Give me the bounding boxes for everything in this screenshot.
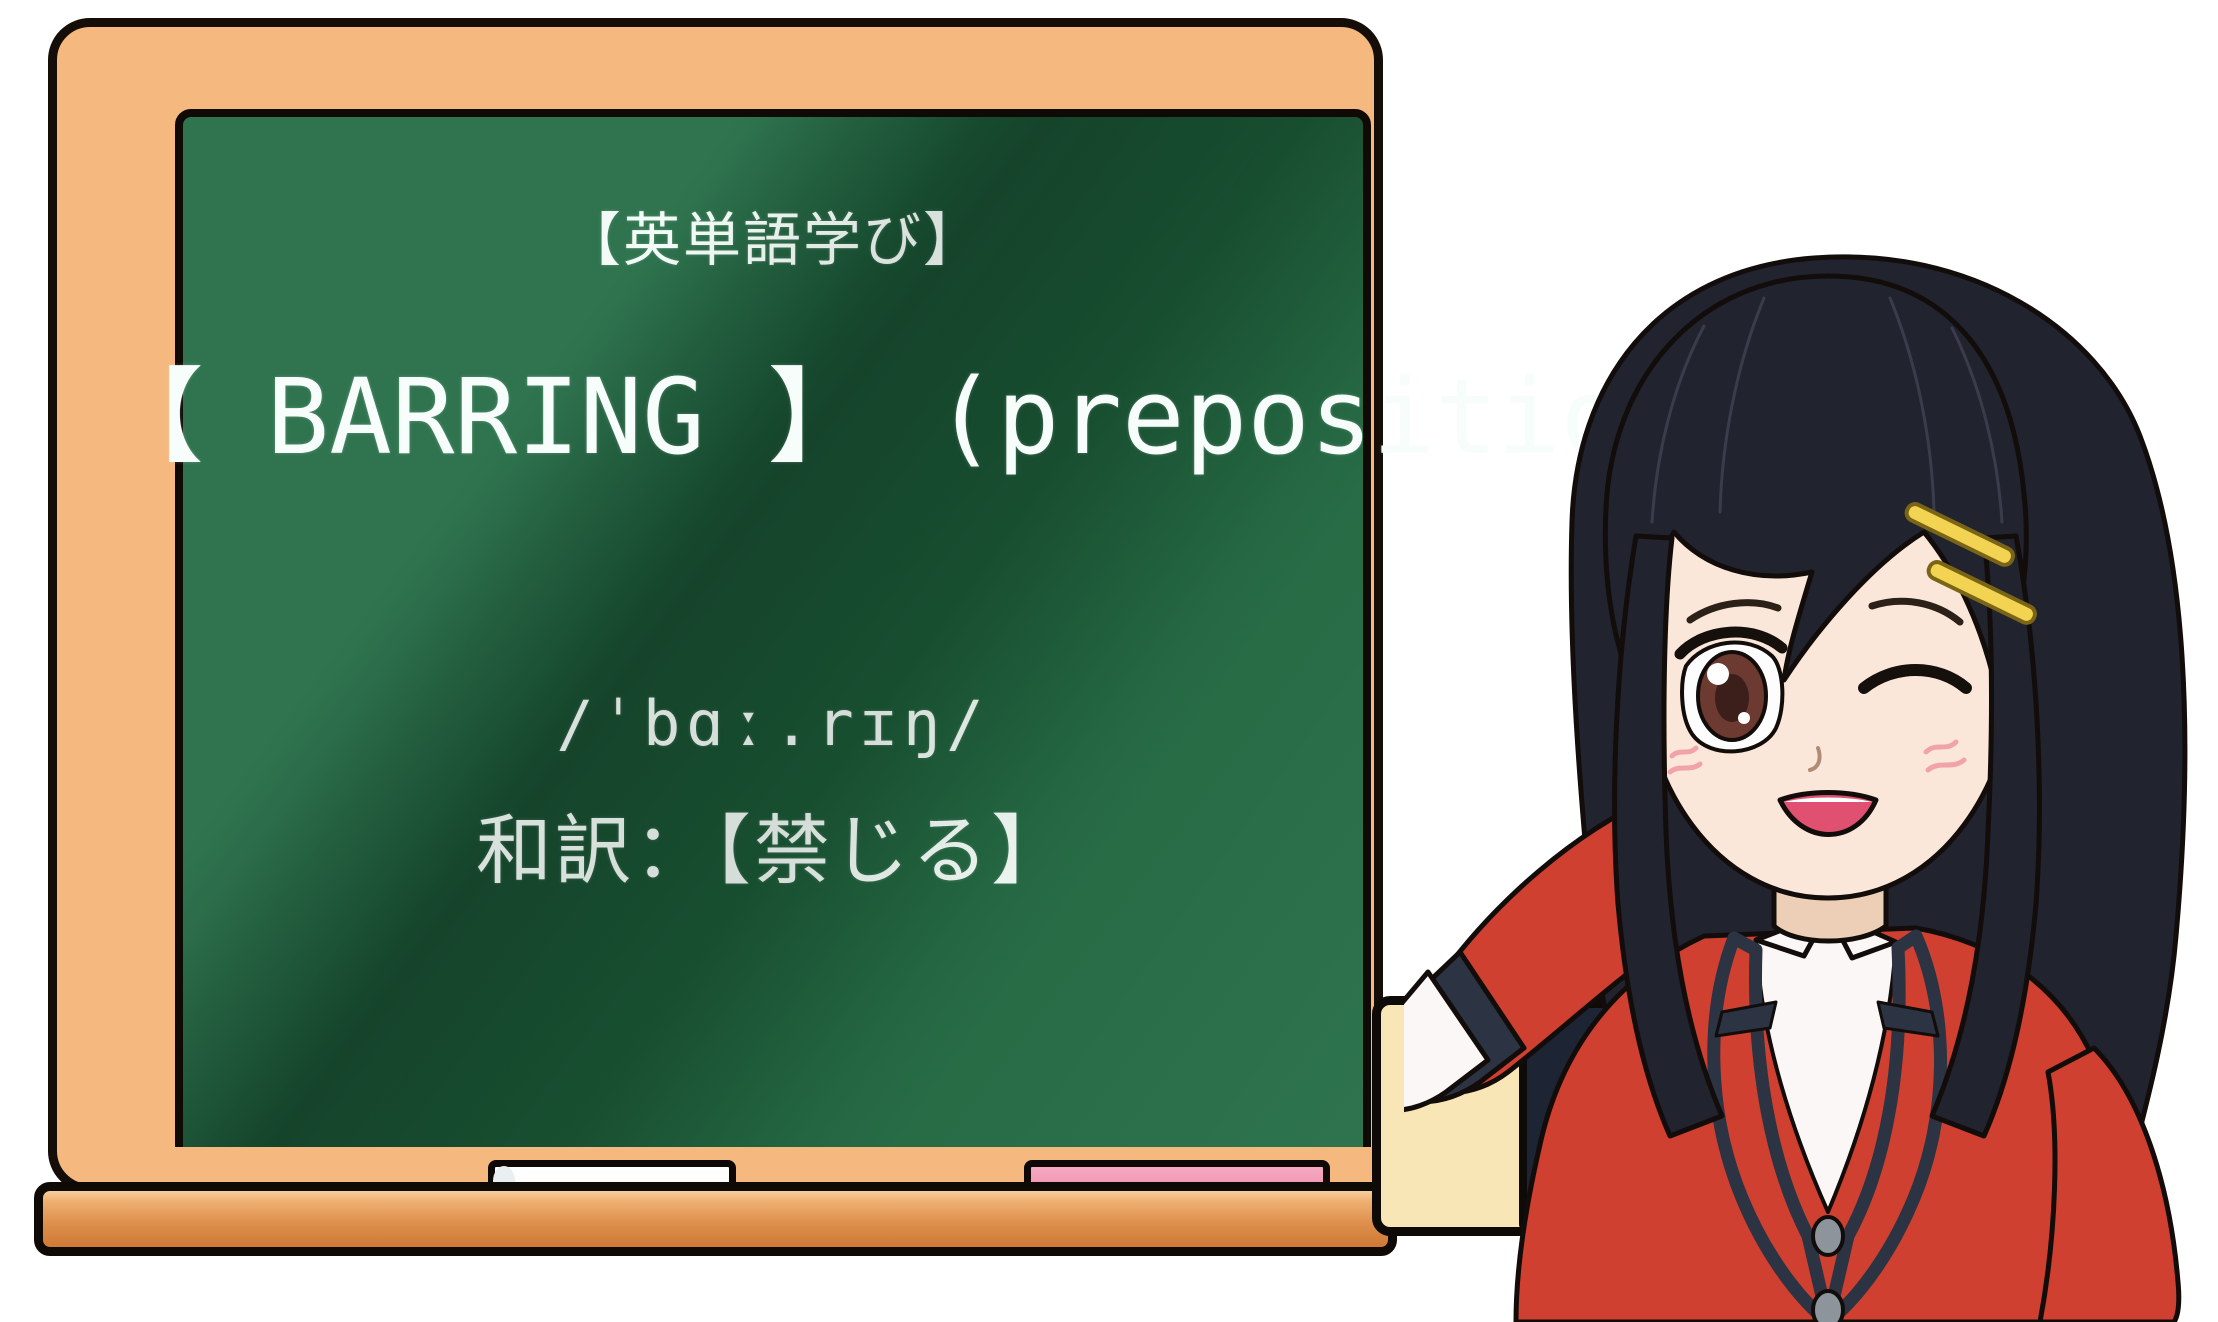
pronunciation-text: /ˈbɑː.rɪŋ/ (183, 687, 1363, 760)
board-header-text: 【英単語学び】 (183, 209, 1363, 273)
chalkboard-surface: 【英単語学び】 /ˈbɑː.rɪŋ/ 和訳：【禁じる】 (175, 109, 1371, 1173)
teacher-character (1404, 236, 2218, 1322)
screenshot-canvas: 【英単語学び】 /ˈbɑː.rɪŋ/ 和訳：【禁じる】 【 BARRING 】 … (0, 0, 2218, 1322)
chalkboard-frame: 【英単語学び】 /ˈbɑː.rɪŋ/ 和訳：【禁じる】 (48, 18, 1383, 1193)
chalk-tray (34, 1182, 1397, 1256)
translation-text: 和訳：【禁じる】 (183, 789, 1363, 899)
